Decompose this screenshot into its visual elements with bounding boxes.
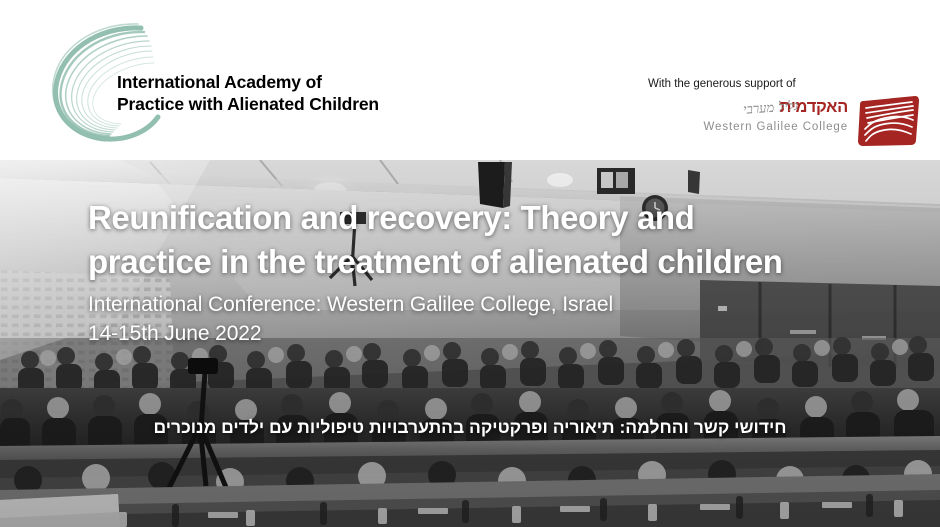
academy-name-line2: Practice with Alienated Children bbox=[117, 93, 417, 115]
academy-wordmark: International Academy of Practice with A… bbox=[117, 71, 417, 115]
hero-subtitle-block: International Conference: Western Galile… bbox=[88, 290, 888, 348]
hero-text-block: Reunification and recovery: Theory and p… bbox=[88, 196, 888, 348]
support-caption: With the generous support of bbox=[648, 78, 796, 90]
wave-square-icon bbox=[854, 94, 920, 148]
sponsor-block: With the generous support of האקדמית גלי… bbox=[640, 78, 920, 154]
conference-banner: International Academy of Practice with A… bbox=[0, 0, 940, 527]
header-band: International Academy of Practice with A… bbox=[0, 0, 940, 160]
hero-subtitle-line1: International Conference: Western Galile… bbox=[88, 290, 888, 319]
hero-title-line1: Reunification and recovery: Theory and bbox=[88, 196, 888, 240]
sponsor-english-name: Western Galilee College bbox=[704, 121, 849, 133]
hebrew-subtitle: חידושי קשר והחלמה: תיאוריה ופרקטיקה בהתע… bbox=[153, 417, 786, 438]
hero-title-line2: practice in the treatment of alienated c… bbox=[88, 240, 888, 284]
sponsor-logo: האקדמית גליל מערבי Western Galilee Colle… bbox=[725, 98, 920, 154]
hero-subtitle-line2: 14-15th June 2022 bbox=[88, 319, 888, 348]
academy-name-line1: International Academy of bbox=[117, 71, 417, 93]
academy-logo: International Academy of Practice with A… bbox=[45, 18, 385, 146]
hebrew-subtitle-strip: חידושי קשר והחלמה: תיאוריה ופרקטיקה בהתע… bbox=[0, 417, 940, 438]
